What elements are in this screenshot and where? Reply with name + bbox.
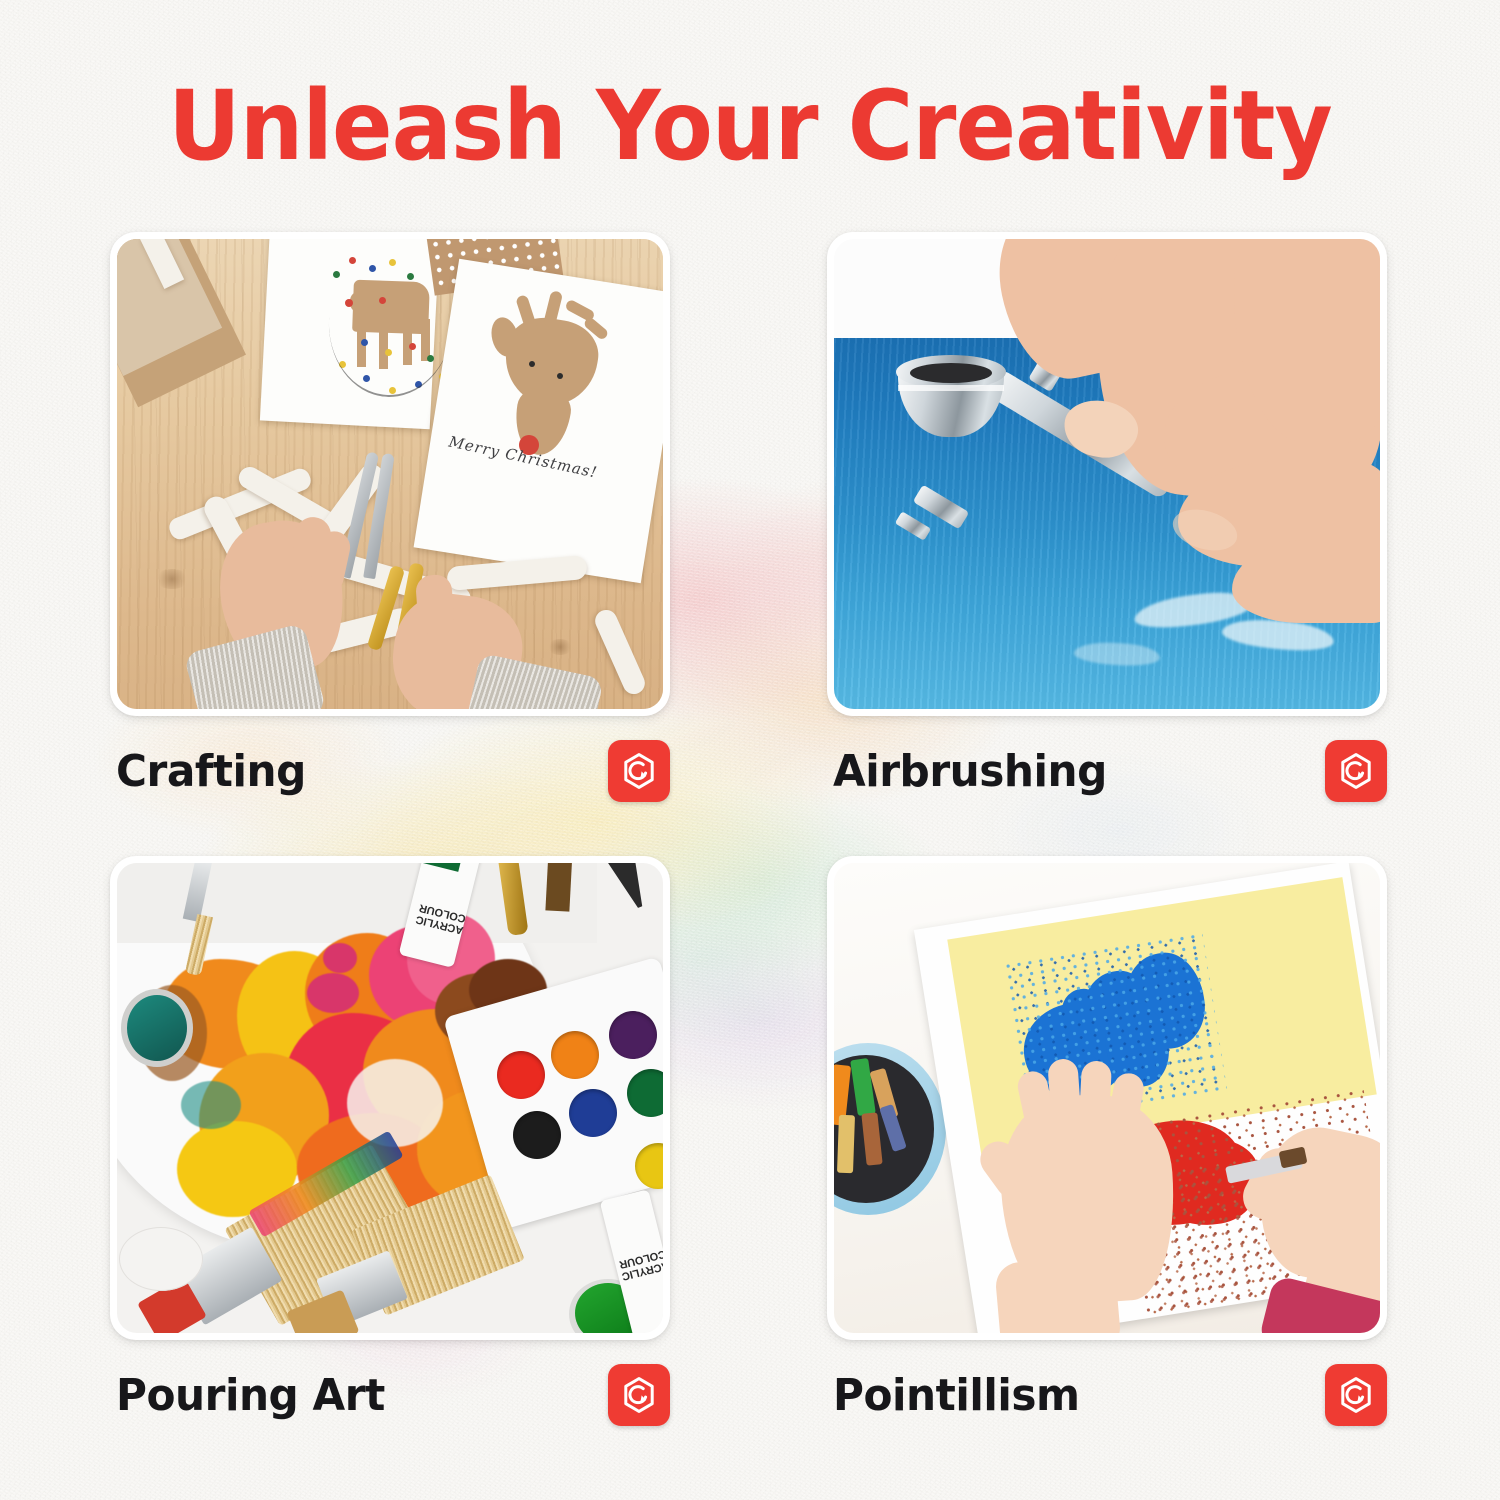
pointillism-caption-row: Pointillism <box>833 1356 1387 1434</box>
hexagon-q-logo-icon[interactable] <box>608 740 670 802</box>
airbrushing-photo <box>834 239 1380 709</box>
pouring-art-photo: ACRYLIC COLOUR ACRYLIC COLOUR <box>117 863 663 1333</box>
feature-card-airbrushing: Airbrushing <box>827 232 1395 800</box>
hexagon-q-logo-icon[interactable] <box>1325 1364 1387 1426</box>
feature-card-crafting: Merry Christmas! <box>110 232 678 800</box>
airbrushing-label: Airbrushing <box>833 746 1107 797</box>
crafting-photo: Merry Christmas! <box>117 239 663 709</box>
crafting-photo-frame: Merry Christmas! <box>110 232 670 716</box>
crafting-caption-row: Crafting <box>116 732 670 810</box>
pointillism-label: Pointillism <box>833 1370 1080 1421</box>
page-title: Unleash Your Creativity <box>53 78 1448 174</box>
feature-card-pointillism: Pointillism <box>827 856 1395 1424</box>
pointillism-photo <box>834 863 1380 1333</box>
hexagon-q-logo-icon[interactable] <box>1325 740 1387 802</box>
feature-card-pouring-art: ACRYLIC COLOUR ACRYLIC COLOUR <box>110 856 678 1424</box>
feature-grid: Merry Christmas! <box>110 232 1395 1472</box>
airbrushing-photo-frame <box>827 232 1387 716</box>
crafting-label: Crafting <box>116 746 306 797</box>
pouring-art-caption-row: Pouring Art <box>116 1356 670 1434</box>
pointillism-photo-frame <box>827 856 1387 1340</box>
pouring-art-label: Pouring Art <box>116 1370 385 1421</box>
airbrushing-caption-row: Airbrushing <box>833 732 1387 810</box>
pouring-art-photo-frame: ACRYLIC COLOUR ACRYLIC COLOUR <box>110 856 670 1340</box>
hexagon-q-logo-icon[interactable] <box>608 1364 670 1426</box>
